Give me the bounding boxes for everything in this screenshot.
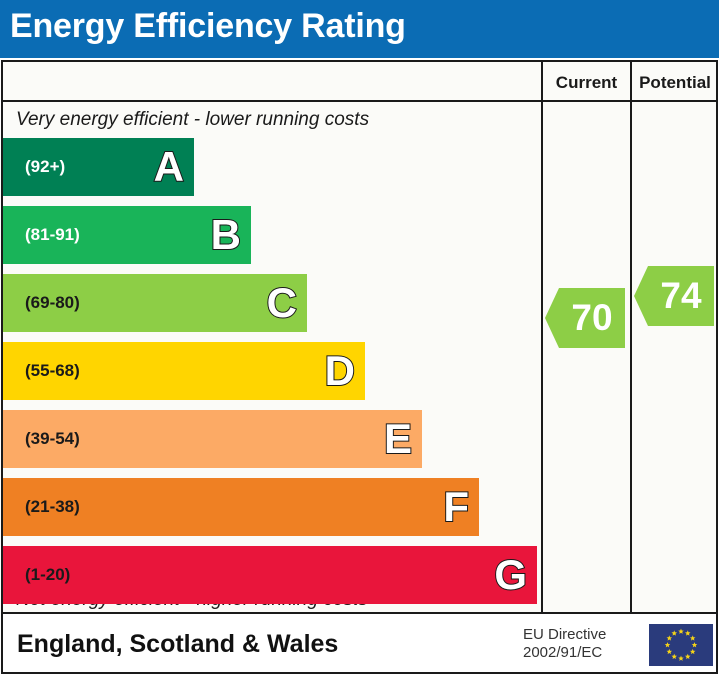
band-range-e: (39-54)	[25, 410, 80, 468]
footer-directive-label: EU Directive 2002/91/EC	[523, 626, 638, 662]
band-e: (39-54)E	[3, 410, 422, 468]
band-letter-a: A	[154, 138, 184, 196]
header-divider	[1, 100, 718, 102]
band-range-f: (21-38)	[25, 478, 80, 536]
footer-bar: England, Scotland & Wales EU Directive 2…	[1, 614, 718, 674]
band-c: (69-80)C	[3, 274, 307, 332]
directive-line-2: 2002/91/EC	[523, 644, 638, 662]
band-d: (55-68)D	[3, 342, 365, 400]
band-letter-d: D	[325, 342, 355, 400]
potential-rating-value: 74	[648, 266, 714, 326]
caption-very-efficient: Very energy efficient - lower running co…	[16, 109, 369, 131]
page-title: Energy Efficiency Rating	[10, 7, 406, 46]
column-header-current: Current	[543, 72, 630, 94]
band-letter-g: G	[494, 546, 527, 604]
band-range-b: (81-91)	[25, 206, 80, 264]
current-rating-value: 70	[559, 288, 625, 348]
band-a: (92+)A	[3, 138, 194, 196]
potential-column-divider	[630, 60, 632, 614]
band-range-a: (92+)	[25, 138, 65, 196]
directive-line-1: EU Directive	[523, 626, 638, 644]
current-rating-arrow: 70	[545, 288, 625, 348]
band-f: (21-38)F	[3, 478, 479, 536]
band-letter-c: C	[267, 274, 297, 332]
current-column-divider	[541, 60, 543, 614]
band-range-c: (69-80)	[25, 274, 80, 332]
column-header-potential: Potential	[632, 72, 718, 94]
band-letter-b: B	[211, 206, 241, 264]
potential-rating-arrow: 74	[634, 266, 714, 326]
eu-flag-icon	[649, 624, 713, 666]
band-letter-f: F	[443, 478, 469, 536]
title-bar: Energy Efficiency Rating	[0, 0, 719, 58]
band-letter-e: E	[384, 410, 412, 468]
band-range-d: (55-68)	[25, 342, 80, 400]
footer-region-label: England, Scotland & Wales	[17, 630, 338, 659]
band-g: (1-20)G	[3, 546, 537, 604]
band-range-g: (1-20)	[25, 546, 70, 604]
energy-efficiency-rating-chart: Energy Efficiency Rating Current Potenti…	[0, 0, 719, 675]
band-b: (81-91)B	[3, 206, 251, 264]
